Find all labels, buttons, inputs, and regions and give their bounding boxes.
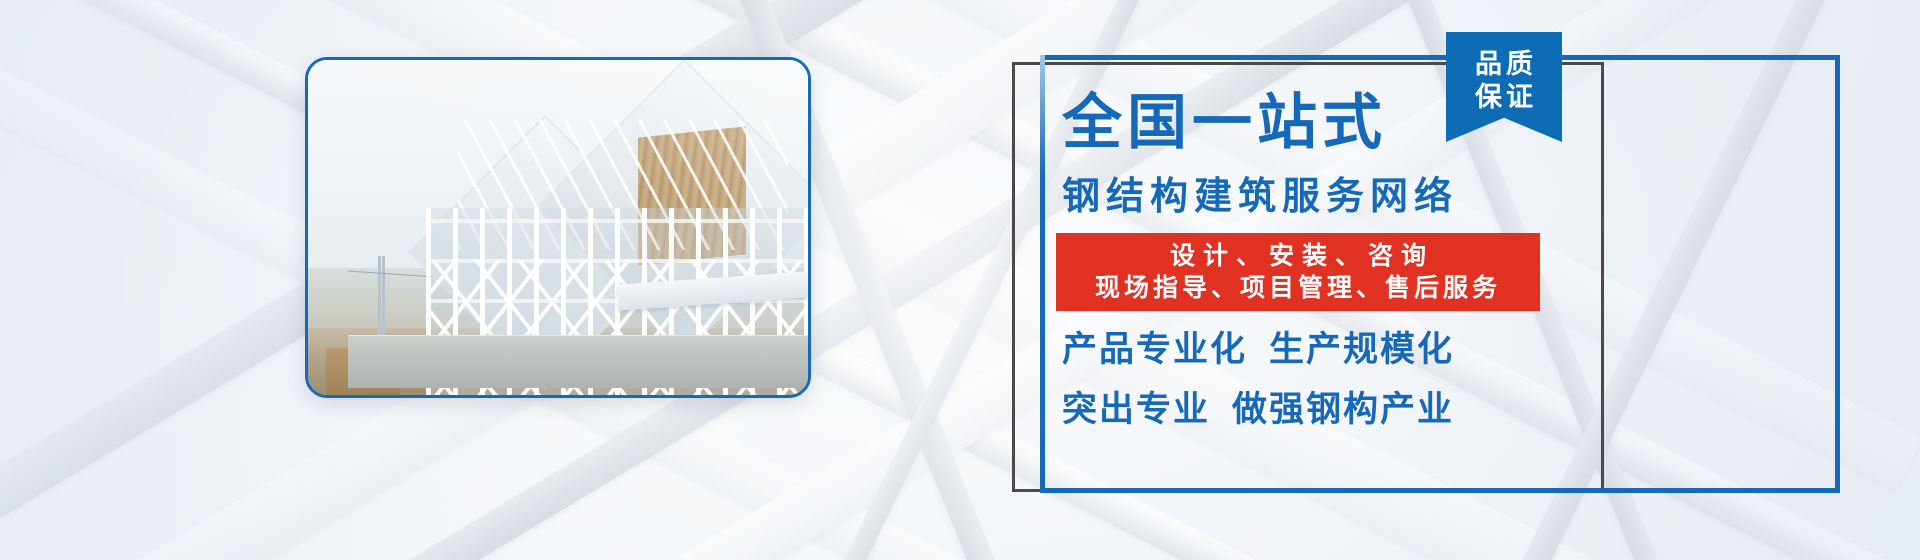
hero-photo [308, 60, 808, 395]
slogan-row-2: 突出专业做强钢构产业 [1062, 393, 1454, 428]
photo-concrete-foundation [348, 335, 808, 389]
ribbon-line-1: 品质 [1471, 48, 1537, 81]
slogan-2-right: 做强钢构产业 [1232, 390, 1454, 430]
headline: 全国一站式 [1062, 93, 1387, 153]
services-line-2: 现场指导、项目管理、售后服务 [1095, 272, 1501, 304]
subheadline: 钢结构建筑服务网络 [1062, 177, 1458, 215]
services-line-1: 设计、安装、咨询 [1162, 240, 1434, 272]
slogan-row-1: 产品专业化生产规模化 [1062, 333, 1454, 368]
ribbon-line-2: 保证 [1471, 81, 1537, 114]
promo-banner: 品质 保证 全国一站式 钢结构建筑服务网络 设计、安装、咨询 现场指导、项目管理… [0, 0, 1920, 560]
marketing-text-block: 全国一站式 钢结构建筑服务网络 设计、安装、咨询 现场指导、项目管理、售后服务 … [1040, 55, 1840, 493]
services-red-banner: 设计、安装、咨询 现场指导、项目管理、售后服务 [1056, 233, 1540, 311]
slogan-2-left: 突出专业 [1062, 390, 1210, 430]
slogan-1-right: 生产规模化 [1269, 330, 1454, 370]
hero-photo-card [305, 57, 811, 398]
slogan-1-left: 产品专业化 [1062, 330, 1247, 370]
